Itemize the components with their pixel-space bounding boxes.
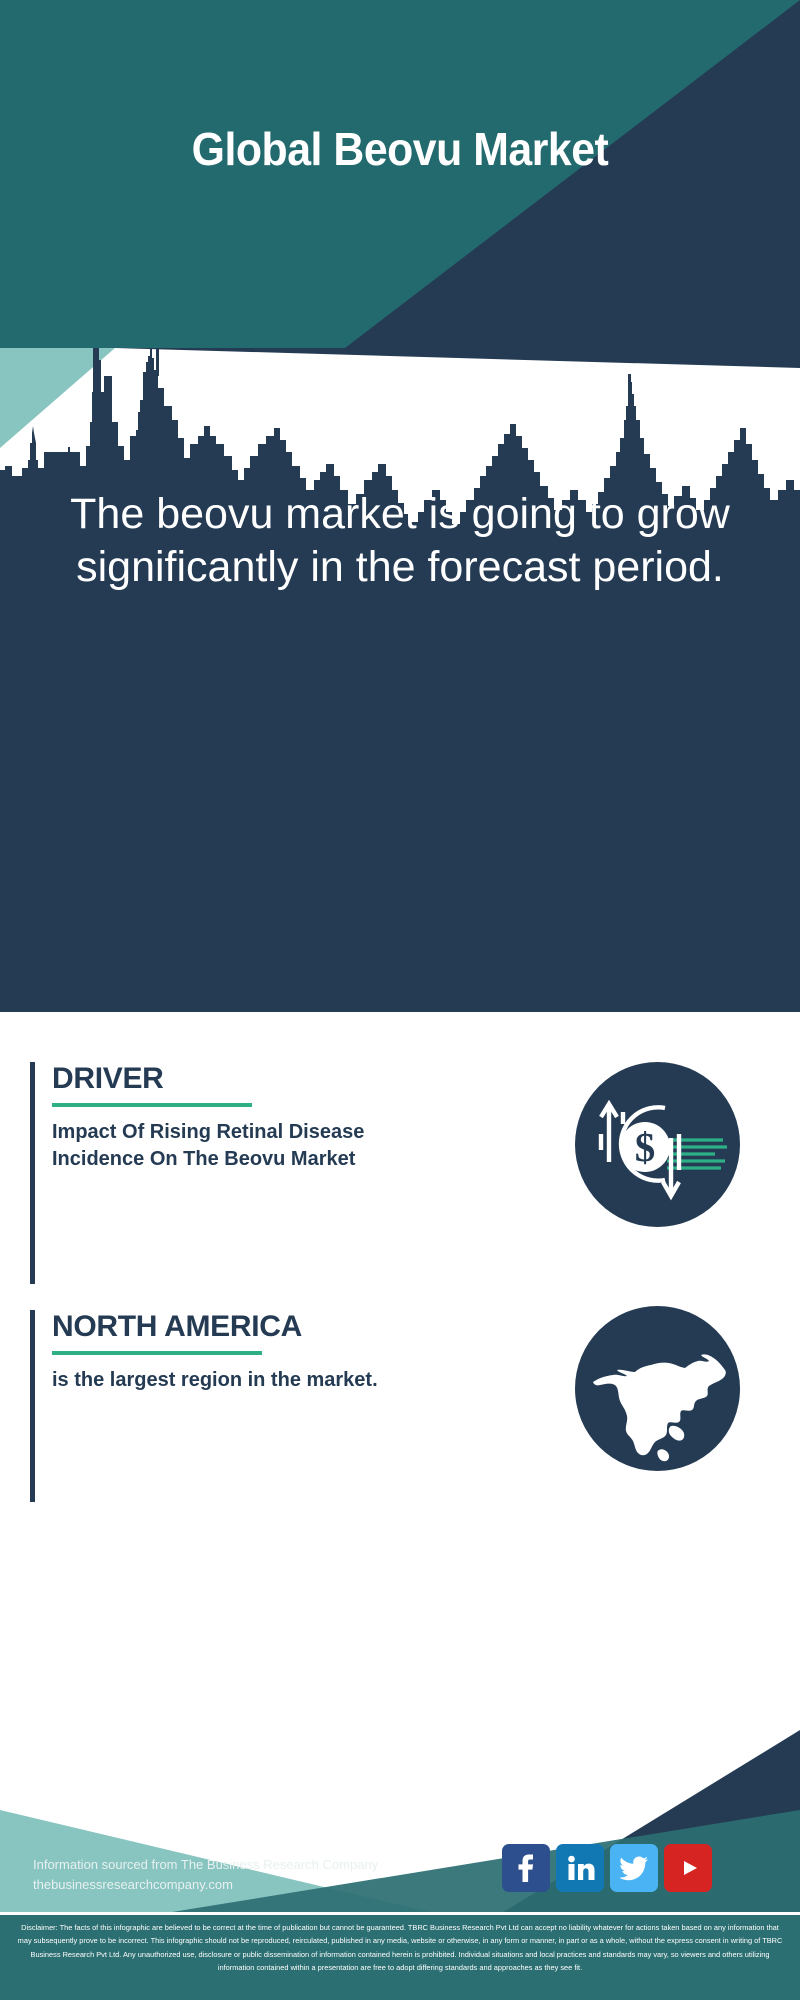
facebook-icon[interactable] xyxy=(502,1844,550,1892)
infographic-page: Global Beovu Market The beovu market is … xyxy=(0,0,800,2000)
card-north-america-text: NORTH AMERICA is the largest region in t… xyxy=(52,1310,452,1394)
youtube-glyph xyxy=(672,1852,704,1884)
facebook-glyph xyxy=(511,1853,541,1883)
card-north-america-heading: NORTH AMERICA xyxy=(52,1310,452,1344)
disclaimer-band: Disclaimer: The facts of this infographi… xyxy=(0,1912,800,2000)
card-driver-text: DRIVER Impact Of Rising Retinal Disease … xyxy=(52,1062,452,1173)
page-title: Global Beovu Market xyxy=(28,122,772,176)
footer-source-line1: Information sourced from The Business Re… xyxy=(33,1855,378,1875)
linkedin-glyph xyxy=(565,1853,595,1883)
twitter-glyph xyxy=(618,1852,650,1884)
hero-section: The beovu market is going to grow signif… xyxy=(0,348,800,1012)
north-america-map-glyph xyxy=(575,1306,740,1471)
card-accent-bar xyxy=(30,1310,35,1502)
card-driver-body: Impact Of Rising Retinal Disease Inciden… xyxy=(52,1119,452,1173)
disclaimer-text: Disclaimer: The facts of this infographi… xyxy=(14,1921,786,1975)
card-driver-heading: DRIVER xyxy=(52,1062,452,1096)
city-skyline-silhouette xyxy=(0,348,800,1012)
youtube-icon[interactable] xyxy=(664,1844,712,1892)
social-links xyxy=(502,1844,712,1892)
linkedin-icon[interactable] xyxy=(556,1844,604,1892)
card-driver-rule xyxy=(52,1103,252,1107)
card-north-america-rule xyxy=(52,1351,262,1355)
dollar-growth-icon: $ xyxy=(575,1062,740,1227)
header-banner: Global Beovu Market xyxy=(0,0,800,348)
footer-source: Information sourced from The Business Re… xyxy=(33,1855,378,1895)
north-america-map-icon xyxy=(575,1306,740,1471)
dollar-growth-glyph: $ xyxy=(575,1062,740,1227)
footer-source-line2[interactable]: thebusinessresearchcompany.com xyxy=(33,1875,378,1895)
card-accent-bar xyxy=(30,1062,35,1284)
card-north-america-body: is the largest region in the market. xyxy=(52,1367,452,1394)
twitter-icon[interactable] xyxy=(610,1844,658,1892)
svg-text:$: $ xyxy=(635,1124,656,1170)
hero-message: The beovu market is going to grow signif… xyxy=(60,488,740,594)
content-section: DRIVER Impact Of Rising Retinal Disease … xyxy=(0,1012,800,1652)
